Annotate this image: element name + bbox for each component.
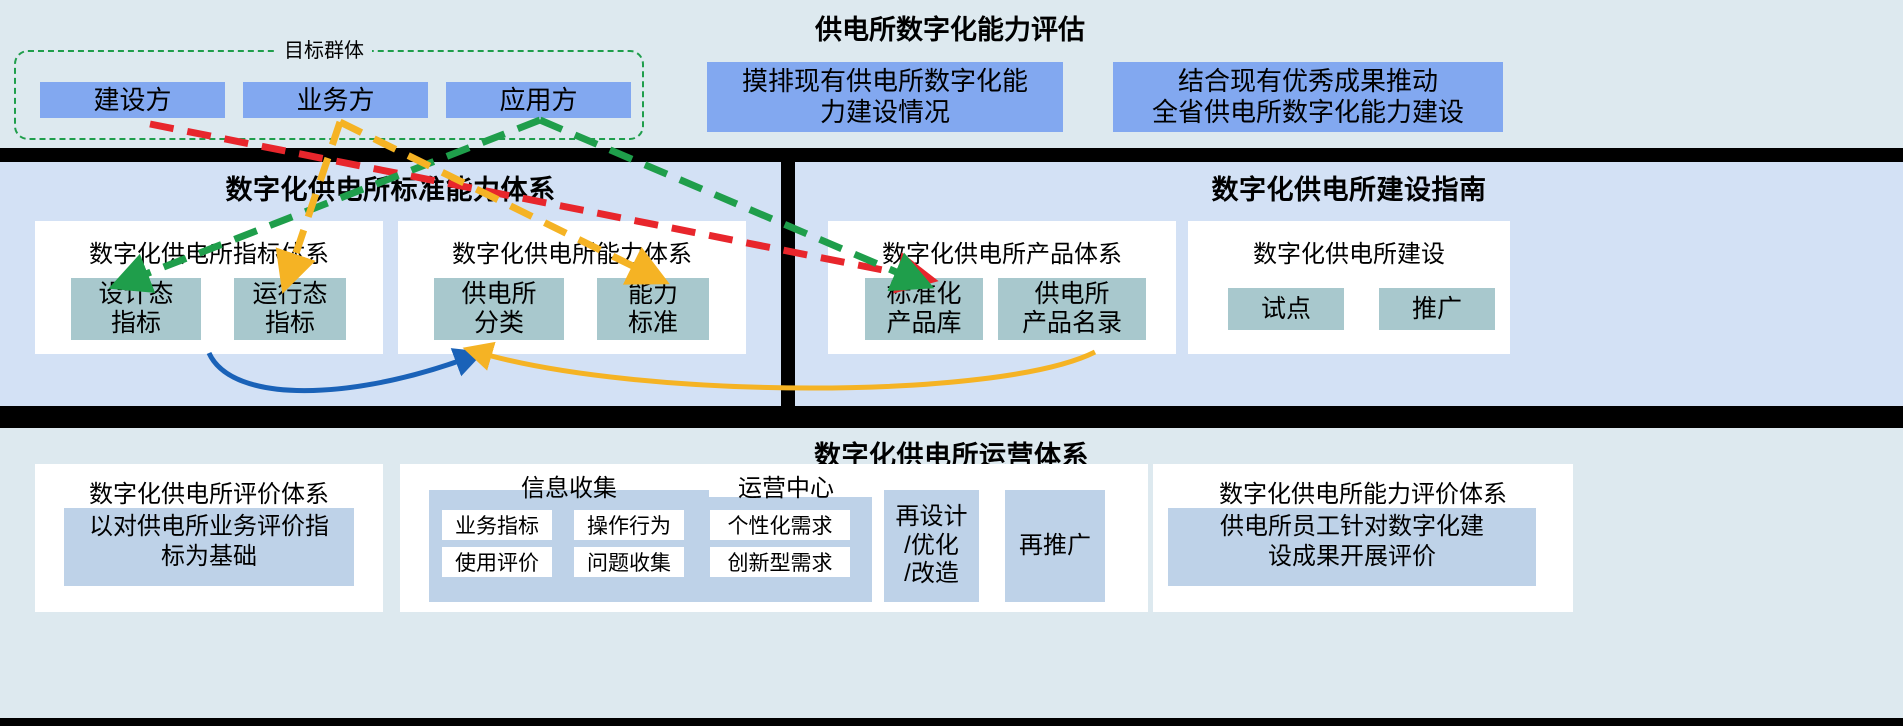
chip-runtime-state-indicator[interactable]: 运行态 指标 bbox=[234, 278, 346, 340]
target-group-item-application[interactable]: 应用方 bbox=[446, 82, 631, 118]
band-vertical-divider bbox=[781, 162, 795, 406]
chip-capability-standard[interactable]: 能力 标准 bbox=[597, 278, 709, 340]
chip-rollout[interactable]: 推广 bbox=[1379, 288, 1495, 330]
target-group-item-business[interactable]: 业务方 bbox=[243, 82, 428, 118]
note-capability-evaluation: 供电所员工针对数字化建 设成果开展评价 bbox=[1168, 508, 1536, 586]
cluster-title-operations-center: 运营中心 bbox=[700, 468, 872, 503]
chip-repromote[interactable]: 再推广 bbox=[1005, 490, 1105, 602]
band-title-standard-capability: 数字化供电所标准能力体系 bbox=[0, 168, 781, 207]
chip-pilot[interactable]: 试点 bbox=[1228, 288, 1344, 330]
panel-title-capability-evaluation: 数字化供电所能力评价体系 bbox=[1153, 474, 1573, 509]
target-group-label: 目标群体 bbox=[276, 34, 372, 63]
panel-title-capability-system: 数字化供电所能力体系 bbox=[398, 234, 746, 269]
panel-title-evaluation-system: 数字化供电所评价体系 bbox=[35, 474, 383, 509]
page-title: 供电所数字化能力评估 bbox=[650, 8, 1250, 47]
divider-top bbox=[0, 148, 1903, 162]
chip-issue-collection[interactable]: 问题收集 bbox=[574, 547, 684, 577]
note-evaluation-basis: 以对供电所业务评价指 标为基础 bbox=[64, 508, 354, 586]
chip-operation-behavior[interactable]: 操作行为 bbox=[574, 510, 684, 540]
cluster-title-info-collection: 信息收集 bbox=[429, 468, 709, 503]
panel-title-indicator-system: 数字化供电所指标体系 bbox=[35, 234, 383, 269]
chip-usage-evaluation[interactable]: 使用评价 bbox=[442, 547, 552, 577]
chip-design-state-indicator[interactable]: 设计态 指标 bbox=[71, 278, 201, 340]
goal-box-promote[interactable]: 结合现有优秀成果推动 全省供电所数字化能力建设 bbox=[1113, 62, 1503, 132]
chip-supply-station-product-catalog[interactable]: 供电所 产品名录 bbox=[998, 278, 1146, 340]
chip-business-indicator[interactable]: 业务指标 bbox=[442, 510, 552, 540]
cluster-info-collection bbox=[429, 490, 709, 602]
target-group-item-builder[interactable]: 建设方 bbox=[40, 82, 225, 118]
chip-innovative-demand[interactable]: 创新型需求 bbox=[710, 547, 850, 577]
chip-personalized-demand[interactable]: 个性化需求 bbox=[710, 510, 850, 540]
chip-supply-station-category[interactable]: 供电所 分类 bbox=[434, 278, 564, 340]
panel-title-product-system: 数字化供电所产品体系 bbox=[828, 234, 1176, 269]
diagram-canvas: 供电所数字化能力评估 目标群体 建设方 业务方 应用方 摸排现有供电所数字化能 … bbox=[0, 0, 1903, 726]
panel-title-construction: 数字化供电所建设 bbox=[1188, 234, 1510, 269]
chip-standard-product-library[interactable]: 标准化 产品库 bbox=[865, 278, 983, 340]
goal-box-survey[interactable]: 摸排现有供电所数字化能 力建设情况 bbox=[707, 62, 1063, 132]
divider-middle bbox=[0, 406, 1903, 428]
chip-redesign-optimize-rebuild[interactable]: 再设计 /优化 /改造 bbox=[884, 490, 979, 602]
divider-bottom bbox=[0, 718, 1903, 726]
band-title-construction-guide: 数字化供电所建设指南 bbox=[795, 168, 1903, 207]
